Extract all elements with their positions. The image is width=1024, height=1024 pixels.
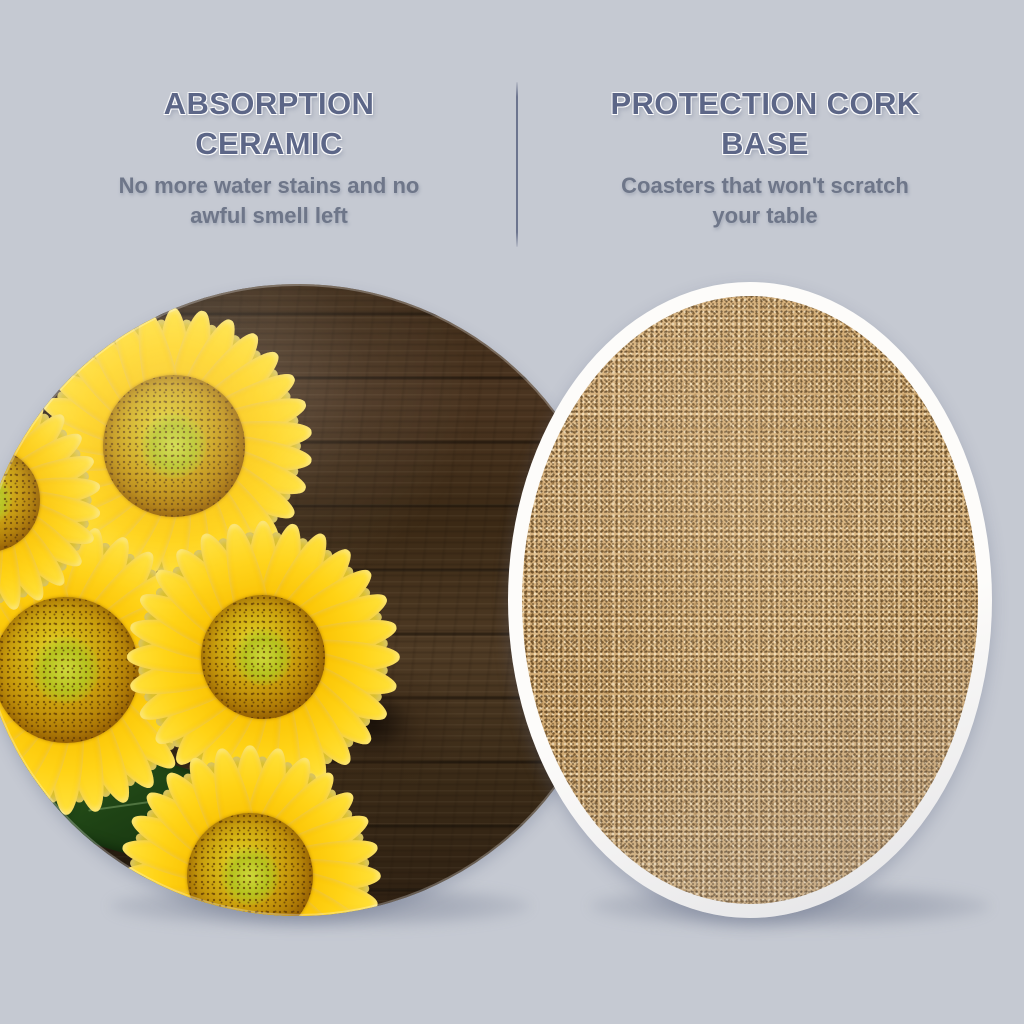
cork-shading xyxy=(522,296,978,904)
sunflower-seed-disk xyxy=(201,595,325,719)
infographic-canvas: ABSORPTION CERAMIC No more water stains … xyxy=(0,0,1024,1024)
cork-surface xyxy=(522,296,978,904)
sunflower-seed-disk xyxy=(103,375,245,517)
sunflower-disk-core xyxy=(221,847,279,905)
product-image-group xyxy=(0,0,1024,1024)
sunflower-disk-core xyxy=(141,413,206,478)
sunflower-disk-core xyxy=(32,636,99,703)
sunflower-disk-core xyxy=(234,628,291,685)
sunflower-disk-core xyxy=(0,476,12,524)
cork-coaster-back xyxy=(508,282,992,918)
